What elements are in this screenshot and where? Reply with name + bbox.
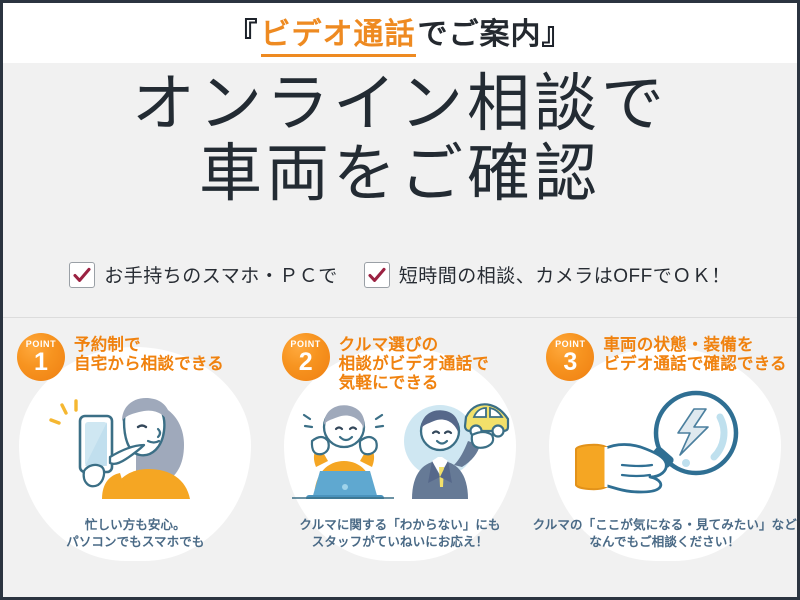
kicker-close-bracket: 』 (542, 9, 573, 53)
point-header-1: POINT 1 予約制で 自宅から相談できる (17, 333, 262, 381)
section-divider (3, 317, 797, 318)
point-badge-number: 3 (563, 350, 577, 375)
point-title-line: ビデオ通話で確認できる (603, 355, 786, 374)
point-title-line: クルマ選びの (339, 336, 489, 355)
point-caption-2: クルマに関する「わからない」にも スタッフがていねいにお応え！ (268, 517, 533, 551)
hand-with-magnifying-glass-illustration (532, 381, 797, 499)
point-caption-line: クルマに関する「わからない」にも (268, 517, 533, 534)
kicker-band: 『 ビデオ通話 でご案内 』 (3, 3, 797, 63)
page-title: オンライン相談で 車両をご確認 (3, 69, 797, 209)
point-caption-3: クルマの「ここが気になる・見てみたい」など なんでもご相談ください！ (532, 517, 797, 551)
checklist-item-2: 短時間の相談、カメラはOFFでＯＫ！ (364, 261, 731, 288)
woman-at-laptop-and-staff-with-car-illustration (268, 381, 533, 499)
points-section: POINT 1 予約制で 自宅から相談できる (3, 325, 797, 563)
kicker-highlight: ビデオ通話 (261, 9, 416, 57)
checklist-label-1: お手持ちのスマホ・ＰＣで (104, 261, 337, 288)
point-card-2: POINT 2 クルマ選びの 相談がビデオ通話で 気軽にできる (268, 325, 533, 563)
point-card-1: POINT 1 予約制で 自宅から相談できる (3, 325, 268, 563)
point-title-line: 予約制で (74, 336, 224, 355)
point-caption-line: パソコンでもスマホでも (3, 534, 268, 551)
point-badge-3: POINT 3 (546, 333, 594, 381)
point-caption-line: スタッフがていねいにお応え！ (268, 534, 533, 551)
point-caption-line: なんでもご相談ください！ (532, 534, 797, 551)
kicker-plain: でご案内 (418, 9, 542, 53)
point-title-1: 予約制で 自宅から相談できる (74, 333, 224, 374)
check-icon (69, 262, 95, 288)
checklist-item-1: お手持ちのスマホ・ＰＣで (69, 261, 337, 288)
point-badge-1: POINT 1 (17, 333, 65, 381)
check-icon (364, 262, 390, 288)
woman-with-smartphone-illustration (3, 381, 268, 499)
promotional-banner: 『 ビデオ通話 でご案内 』 オンライン相談で 車両をご確認 お手持ちのスマホ・… (0, 0, 800, 600)
point-badge-number: 2 (299, 350, 313, 375)
point-card-3: POINT 3 車両の状態・装備を ビデオ通話で確認できる (532, 325, 797, 563)
kicker-text: 『 ビデオ通話 でご案内 』 (228, 9, 573, 57)
point-title-line: 車両の状態・装備を (603, 336, 786, 355)
point-title-line: 自宅から相談できる (74, 355, 224, 374)
point-header-3: POINT 3 車両の状態・装備を ビデオ通話で確認できる (546, 333, 791, 381)
point-badge-2: POINT 2 (282, 333, 330, 381)
point-badge-number: 1 (34, 350, 48, 375)
point-caption-1: 忙しい方も安心。 パソコンでもスマホでも (3, 517, 268, 551)
point-title-line: 相談がビデオ通話で (339, 355, 489, 374)
point-title-3: 車両の状態・装備を ビデオ通話で確認できる (603, 333, 786, 374)
headline-line-1: オンライン相談で (3, 69, 797, 139)
checklist-label-2: 短時間の相談、カメラはOFFでＯＫ！ (399, 261, 731, 288)
point-caption-line: 忙しい方も安心。 (3, 517, 268, 534)
point-caption-line: クルマの「ここが気になる・見てみたい」など (532, 517, 797, 534)
kicker-open-bracket: 『 (228, 9, 259, 53)
feature-checklist: お手持ちのスマホ・ＰＣで 短時間の相談、カメラはOFFでＯＫ！ (3, 261, 797, 288)
headline-line-2: 車両をご確認 (3, 139, 797, 209)
